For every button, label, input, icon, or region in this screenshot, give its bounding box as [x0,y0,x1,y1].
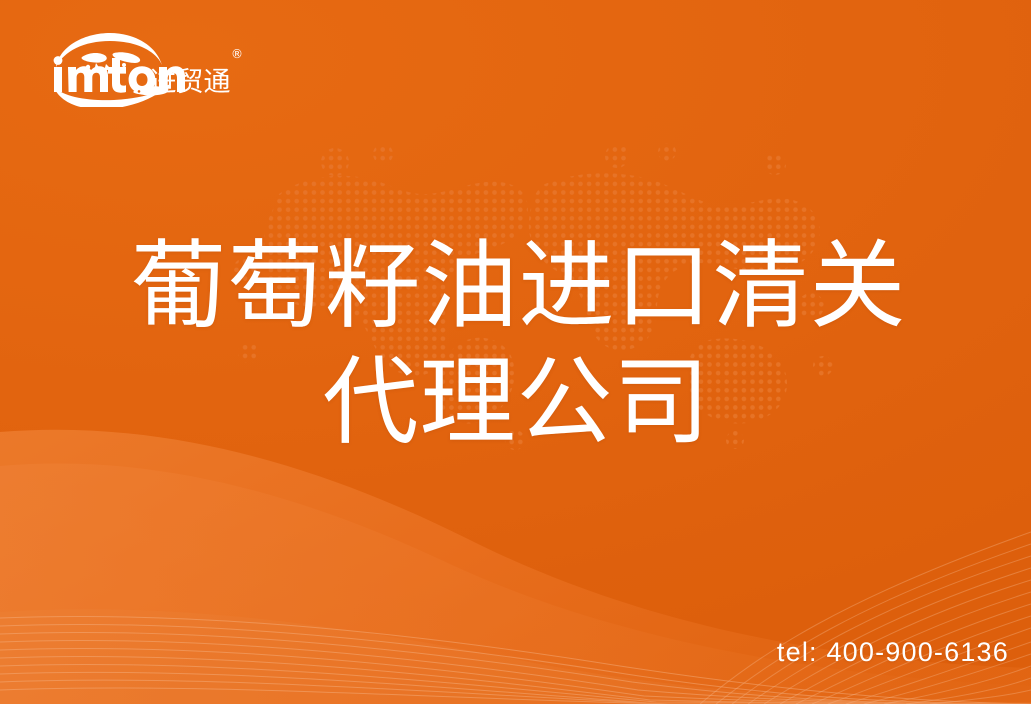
contact-phone[interactable]: tel: 400-900-6136 [777,636,1009,668]
promo-banner: 进贸通 ® 葡萄籽油进口清关 代理公司 tel: 400-900-6136 [0,0,1031,704]
brand-logo[interactable]: 进贸通 ® [38,27,246,107]
headline-line-1: 葡萄籽油进口清关 [0,228,1031,344]
globe-arc-icon [56,33,162,71]
registered-trademark-icon: ® [231,47,243,61]
page-title: 葡萄籽油进口清关 代理公司 [0,228,1031,460]
headline-line-2: 代理公司 [0,344,1031,460]
